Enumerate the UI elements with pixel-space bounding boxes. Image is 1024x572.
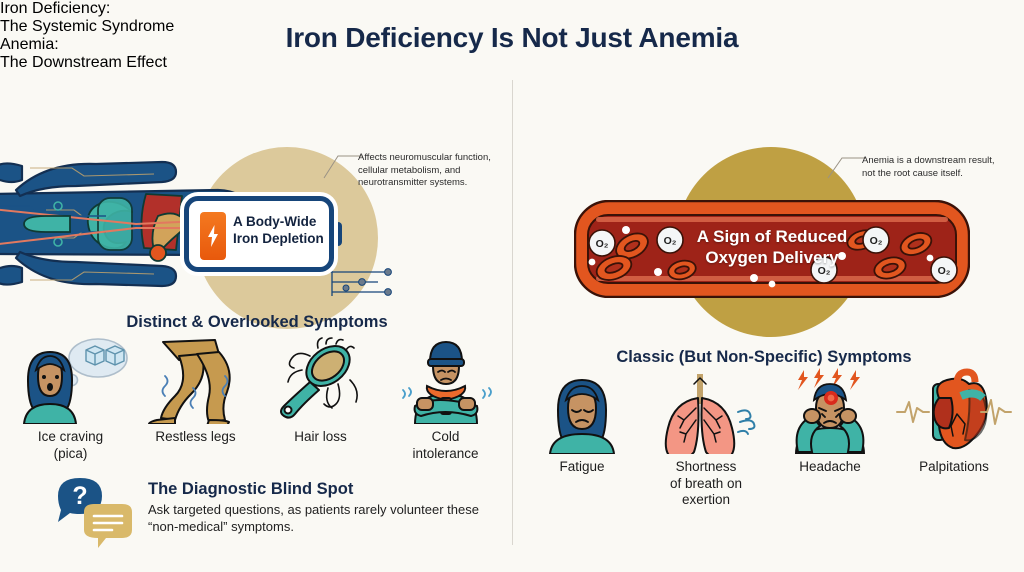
symptom-palpitations: Palpitations	[892, 368, 1016, 509]
infographic-canvas: Iron Deficiency Is Not Just Anemia Iron …	[0, 0, 1024, 572]
battery-cell	[200, 212, 226, 260]
right-panel-title-line2: The Downstream Effect	[0, 54, 500, 72]
symptom-label-line1: Fatigue	[559, 459, 604, 476]
symptom-label: Headache	[799, 459, 861, 476]
left-symptoms-row: Ice craving (pica)	[8, 336, 508, 462]
symptom-hair-loss: Hair loss	[258, 336, 383, 462]
panel-divider	[512, 80, 513, 545]
vessel-badge-text: A Sign of Reduced Oxygen Delivery	[574, 226, 970, 269]
symptom-label-line1: Headache	[799, 459, 861, 476]
symptom-label-line1: Shortness	[670, 459, 742, 476]
battery-body: A Body-Wide Iron Depletion	[184, 196, 334, 272]
symptom-label-line1: Palpitations	[919, 459, 989, 476]
symptom-label-line2: intolerance	[412, 446, 478, 463]
cold-intolerance-icon	[391, 336, 501, 424]
heart-palpitations-icon	[895, 368, 1013, 454]
right-annotation-text: Anemia is a downstream result, not the r…	[862, 155, 1002, 180]
left-annotation-text: Affects neuromuscular function, cellular…	[358, 152, 498, 190]
symptom-label-line2: (pica)	[38, 446, 103, 463]
symptom-label: Palpitations	[919, 459, 989, 476]
symptom-label: Hair loss	[294, 429, 347, 446]
right-symptoms-heading: Classic (But Non-Specific) Symptoms	[514, 348, 1014, 367]
symptom-cold-intolerance: Cold intolerance	[383, 336, 508, 462]
hair-loss-icon	[266, 336, 376, 424]
blind-spot-title: The Diagnostic Blind Spot	[148, 480, 502, 499]
question-chat-bubbles-icon: ?	[52, 474, 136, 548]
diagnostic-blind-spot: ? The Diagnostic Blind Spot Ask targeted…	[52, 474, 502, 548]
symptom-label-line1: Cold	[412, 429, 478, 446]
symptom-restless-legs: Restless legs	[133, 336, 258, 462]
left-panel-title-line1: Iron Deficiency:	[0, 0, 500, 18]
symptom-label: Fatigue	[559, 459, 604, 476]
headache-icon	[774, 368, 886, 454]
iron-depletion-badge: A Body-Wide Iron Depletion	[184, 196, 342, 272]
left-symptoms-heading: Distinct & Overlooked Symptoms	[10, 313, 504, 332]
symptom-label: Ice craving (pica)	[38, 429, 103, 462]
battery-text-line1: A Body-Wide	[233, 213, 333, 230]
symptom-label-line1: Ice craving	[38, 429, 103, 446]
vessel-text-line2: Oxygen Delivery	[574, 247, 970, 268]
symptom-fatigue: Fatigue	[520, 368, 644, 509]
symptom-label: Shortness of breath on exertion	[670, 459, 742, 509]
blind-spot-body: Ask targeted questions, as patients rare…	[148, 501, 502, 536]
battery-text-line2: Iron Depletion	[233, 230, 333, 247]
ice-craving-icon	[12, 336, 130, 424]
symptom-label: Cold intolerance	[412, 429, 478, 462]
symptom-ice-craving: Ice craving (pica)	[8, 336, 133, 462]
symptom-label-line2: of breath on	[670, 476, 742, 493]
fatigue-face-icon	[530, 368, 634, 454]
blind-spot-text: The Diagnostic Blind Spot Ask targeted q…	[148, 474, 502, 548]
symptom-label-line1: Hair loss	[294, 429, 347, 446]
vessel-text-line1: A Sign of Reduced	[574, 226, 970, 247]
symptom-headache: Headache	[768, 368, 892, 509]
symptom-label-line1: Restless legs	[155, 429, 235, 446]
symptom-label-line3: exertion	[670, 492, 742, 509]
restless-legs-icon	[141, 336, 251, 424]
svg-text:?: ?	[72, 482, 87, 510]
battery-badge-text: A Body-Wide Iron Depletion	[233, 213, 333, 248]
lightning-bolt-icon	[207, 225, 219, 247]
symptom-shortness-of-breath: Shortness of breath on exertion	[644, 368, 768, 509]
lungs-icon	[650, 368, 762, 454]
page-title: Iron Deficiency Is Not Just Anemia	[0, 22, 1024, 54]
right-symptoms-row: Fatigue	[520, 368, 1016, 509]
symptom-label: Restless legs	[155, 429, 235, 446]
blood-vessel-badge: O₂ O₂ O₂ O₂ O₂ A Sign of Reduced Oxygen …	[574, 200, 970, 298]
